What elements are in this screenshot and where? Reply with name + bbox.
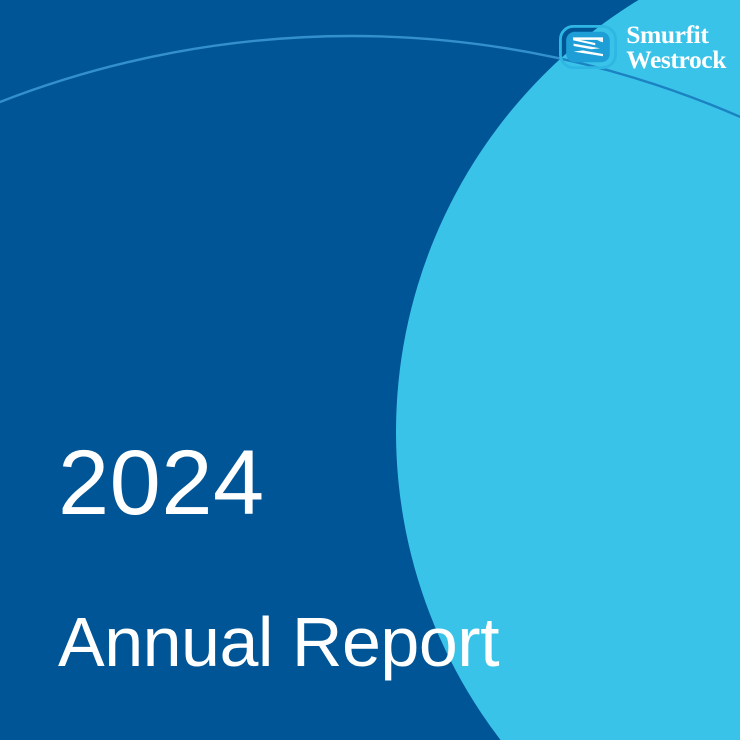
cover-subtitle: Annual Report bbox=[58, 529, 499, 677]
cover-title-block: 2024 Annual Report bbox=[58, 437, 499, 677]
cover-year: 2024 bbox=[58, 437, 499, 529]
brand-logo-lockup: Smurfit Westrock bbox=[559, 22, 726, 72]
brand-wordmark: Smurfit Westrock bbox=[626, 22, 726, 72]
wordmark-line-smurfit: Smurfit bbox=[626, 22, 726, 47]
annual-report-cover: Smurfit Westrock 2024 Annual Report bbox=[0, 0, 740, 740]
smurfit-westrock-wave-mark-icon bbox=[559, 25, 617, 69]
wordmark-line-westrock: Westrock bbox=[626, 47, 726, 72]
